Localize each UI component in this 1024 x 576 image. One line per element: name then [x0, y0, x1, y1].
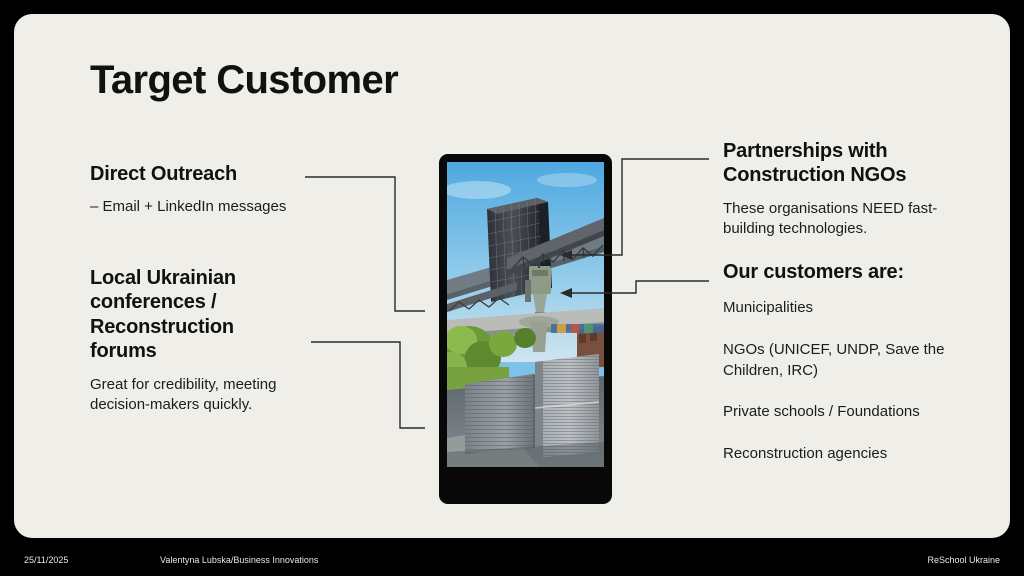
construction-site-photo [447, 162, 604, 467]
block-body: – Email + LinkedIn messages [90, 197, 305, 218]
list-item: Reconstruction agencies [723, 444, 951, 465]
block-heading: Our customers are: [723, 260, 951, 284]
phone-mockup [439, 154, 612, 504]
block-local-conferences: Local Ukrainian conferences / Reconstruc… [90, 266, 305, 416]
block-heading: Local Ukrainian conferences / Reconstruc… [90, 266, 305, 364]
footer-author: Valentyna Lubska/Business Innovations [160, 556, 318, 565]
block-body: These organisations NEED fast-building t… [723, 199, 951, 240]
list-item: NGOs (UNICEF, UNDP, Save the Children, I… [723, 340, 951, 381]
block-direct-outreach: Direct Outreach – Email + LinkedIn messa… [90, 162, 305, 218]
block-heading: Partnerships with Construction NGOs [723, 139, 951, 188]
footer-date: 25/11/2025 [24, 556, 68, 565]
block-partnerships-ngos: Partnerships with Construction NGOs Thes… [723, 139, 951, 240]
slide-card: Target Customer Direct Outreach – Email … [14, 14, 1010, 538]
list-item: Municipalities [723, 298, 951, 319]
footer-brand: ReSchool Ukraine [927, 556, 1000, 565]
page-title: Target Customer [90, 58, 398, 102]
slide-root: Target Customer Direct Outreach – Email … [0, 0, 1024, 576]
block-body: Great for credibility, meeting decision-… [90, 375, 305, 416]
slide-footer: 25/11/2025 Valentyna Lubska/Business Inn… [0, 546, 1024, 576]
block-our-customers: Our customers are: Municipalities NGOs (… [723, 260, 951, 465]
phone-screen-photo [447, 162, 604, 467]
customers-list: Municipalities NGOs (UNICEF, UNDP, Save … [723, 298, 951, 464]
block-heading: Direct Outreach [90, 162, 305, 186]
list-item: Private schools / Foundations [723, 402, 951, 423]
